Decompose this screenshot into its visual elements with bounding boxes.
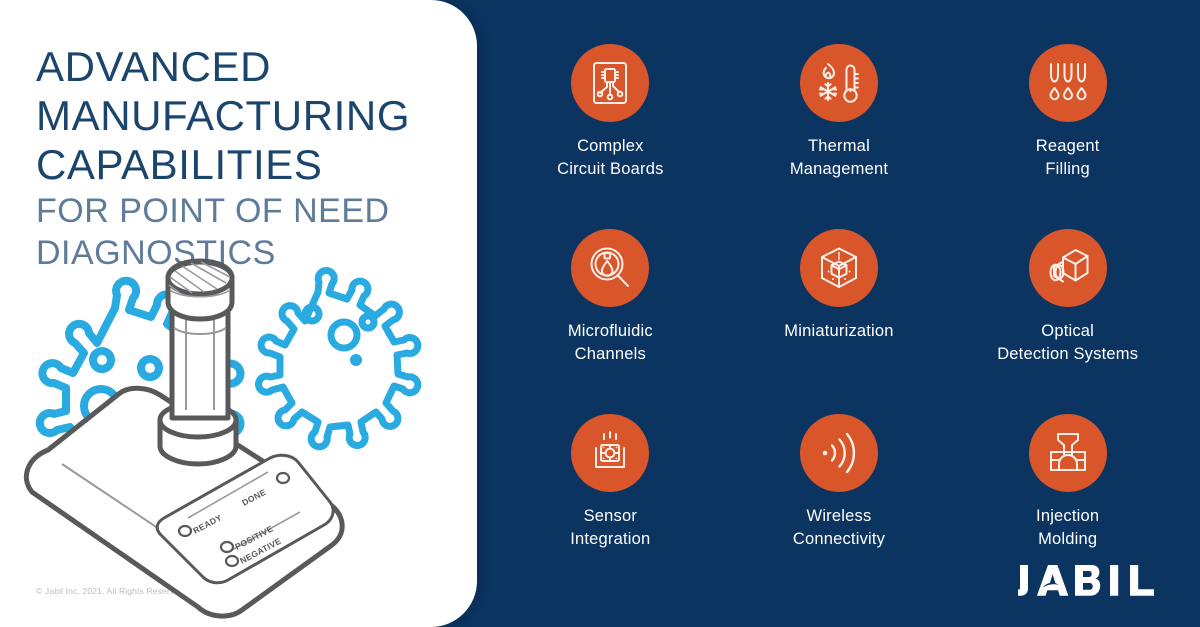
capabilities-grid: Complex Circuit Boards: [478, 0, 1200, 627]
virus-particle-small-icon: [258, 270, 417, 446]
capability-item-miniaturization[interactable]: Miniaturization: [725, 215, 954, 400]
infographic-slide: ADVANCED MANUFACTURING CAPABILITIES FOR …: [0, 0, 1200, 627]
capability-label: Complex Circuit Boards: [557, 135, 663, 181]
camera-lens-icon: [1029, 229, 1107, 307]
capability-label: Injection Molding: [1036, 505, 1099, 551]
page-title-line-2: MANUFACTURING: [36, 91, 456, 140]
capability-label: Miniaturization: [784, 320, 893, 343]
magnifier-droplet-icon: [571, 229, 649, 307]
capability-item-sensor-integration[interactable]: Sensor Integration: [496, 400, 725, 585]
page-subtitle-line-1: FOR POINT OF NEED: [36, 191, 456, 231]
capability-item-microfluidic-channels[interactable]: Microfluidic Channels: [496, 215, 725, 400]
capability-label: Wireless Connectivity: [793, 505, 885, 551]
capability-label: Sensor Integration: [570, 505, 650, 551]
page-title-line-1: ADVANCED: [36, 42, 456, 91]
page-title-line-3: CAPABILITIES: [36, 140, 456, 189]
capability-item-reagent-filling[interactable]: Reagent Filling: [953, 30, 1182, 215]
capability-item-injection-molding[interactable]: Injection Molding: [953, 400, 1182, 585]
capability-item-thermal-management[interactable]: Thermal Management: [725, 30, 954, 215]
title-block: ADVANCED MANUFACTURING CAPABILITIES FOR …: [36, 42, 456, 273]
capability-item-wireless-connectivity[interactable]: Wireless Connectivity: [725, 400, 954, 585]
sensor-module-icon: [571, 414, 649, 492]
capability-label: Optical Detection Systems: [997, 320, 1138, 366]
wireless-signal-icon: [800, 414, 878, 492]
jabil-logo: JABIL: [1018, 563, 1168, 603]
pipette-droplets-icon: [1029, 44, 1107, 122]
capability-label: Microfluidic Channels: [568, 320, 653, 366]
thermometer-flame-snowflake-icon: [800, 44, 878, 122]
injection-mold-icon: [1029, 414, 1107, 492]
capability-label: Thermal Management: [790, 135, 888, 181]
capability-item-complex-circuit-boards[interactable]: Complex Circuit Boards: [496, 30, 725, 215]
capability-item-optical-detection-systems[interactable]: Optical Detection Systems: [953, 215, 1182, 400]
diagnostic-device-illustration: READY DONE POSITIVE NEGATIVE: [0, 250, 475, 627]
nested-cube-icon: [800, 229, 878, 307]
circuit-board-icon: [571, 44, 649, 122]
capability-label: Reagent Filling: [1036, 135, 1100, 181]
